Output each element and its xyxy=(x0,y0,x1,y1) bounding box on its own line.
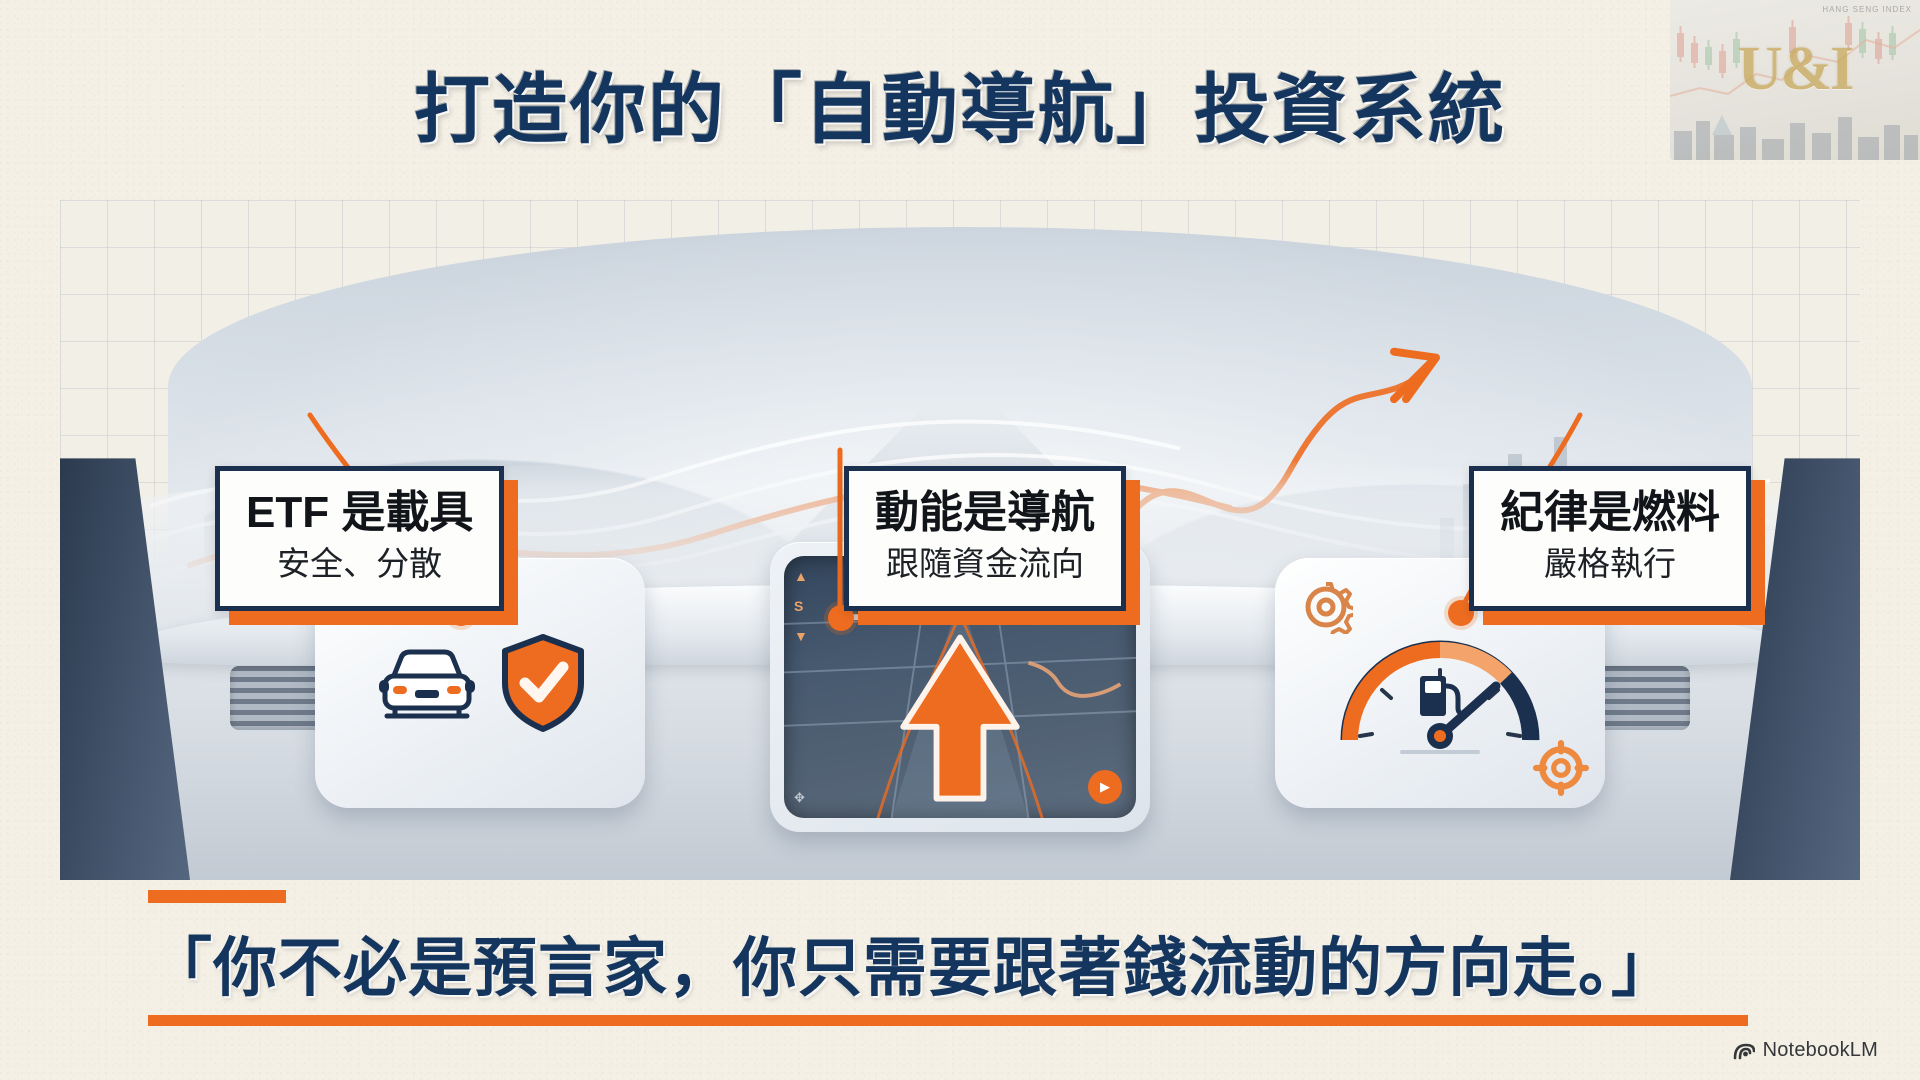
compass-icon[interactable]: ✥ xyxy=(794,790,805,806)
fuel-pump-icon xyxy=(1420,676,1464,716)
card-title: ETF 是載具 xyxy=(246,487,473,539)
quote-accent-rule-top xyxy=(148,890,286,903)
shield-check-icon xyxy=(499,633,587,733)
callout-card-etf[interactable]: ETF 是載具 安全、分散 xyxy=(215,466,504,611)
scale-icon[interactable]: S xyxy=(794,598,808,614)
watermark-label: NotebookLM xyxy=(1763,1039,1878,1062)
quote-block: 「你不必是預言家，你只需要跟著錢流動的方向走。」 xyxy=(148,890,1788,1026)
zoom-down-icon[interactable]: ▼ xyxy=(794,628,808,644)
card-subtitle: 安全、分散 xyxy=(246,543,473,586)
callout-card-momentum[interactable]: 動能是導航 跟隨資金流向 xyxy=(844,466,1126,611)
quote-text: 「你不必是預言家，你只需要跟著錢流動的方向走。」 xyxy=(148,917,1788,1009)
illustration-panel: ▮▮▯ 5G 9:04 ▭ ▲ S ▼ ✥ ▶ xyxy=(60,200,1860,880)
card-subtitle: 嚴格執行 xyxy=(1500,543,1720,586)
quote-accent-rule-bottom xyxy=(148,1015,1748,1026)
uptrend-arrow-icon xyxy=(1394,352,1436,399)
notebooklm-watermark: NotebookLM xyxy=(1733,1039,1878,1062)
zoom-in-icon[interactable]: ▲ xyxy=(794,568,808,584)
a-pillar-left xyxy=(60,458,190,880)
card-subtitle: 跟隨資金流向 xyxy=(875,543,1095,586)
ticker-label: HANG SENG INDEX xyxy=(1822,5,1912,14)
gear-icon xyxy=(1533,740,1589,796)
card-title: 動能是導航 xyxy=(875,487,1095,539)
play-icon[interactable]: ▶ xyxy=(1088,770,1122,804)
page-title: 打造你的「自動導航」投資系統 xyxy=(414,48,1506,158)
car-front-icon xyxy=(373,640,481,726)
card-title: 紀律是燃料 xyxy=(1500,487,1720,539)
fuel-gauge-icon xyxy=(1320,608,1560,758)
callout-card-discipline[interactable]: 紀律是燃料 嚴格執行 xyxy=(1469,466,1751,611)
nav-side-controls[interactable]: ▲ S ▼ xyxy=(794,568,808,644)
slide-title-bar: 打造你的「自動導航」投資系統 xyxy=(0,48,1920,158)
gear-icon xyxy=(1299,580,1353,634)
brand-mark: U&I xyxy=(1670,0,1920,160)
brand-logo: U&I HANG SENG INDEX xyxy=(1670,0,1920,160)
notebooklm-icon xyxy=(1733,1042,1755,1060)
